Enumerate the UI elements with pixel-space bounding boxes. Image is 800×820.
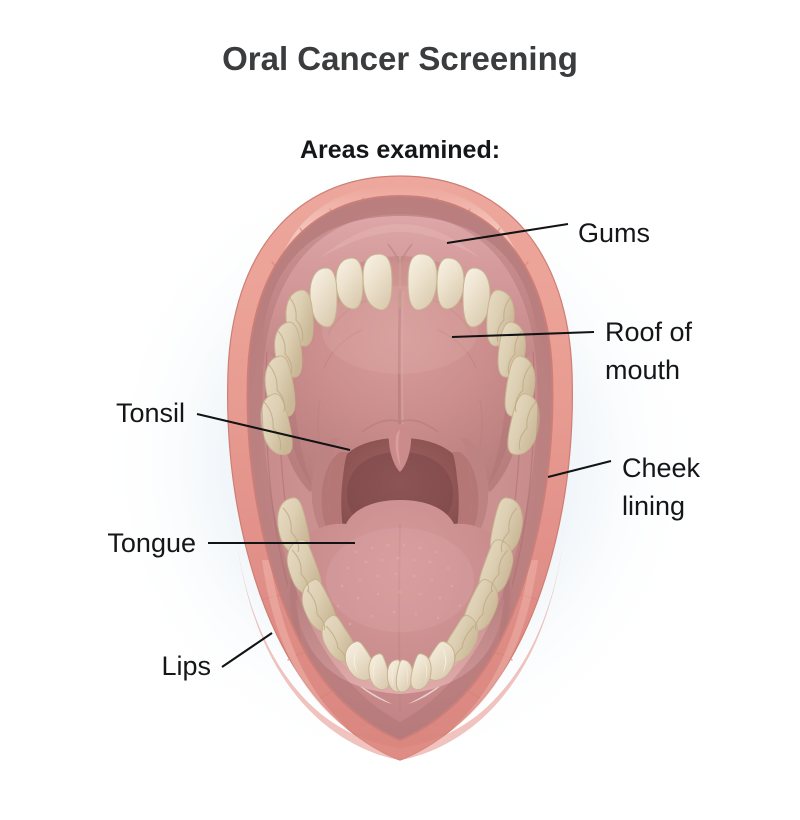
subtitle: Areas examined: [300, 136, 500, 164]
label-cheek-lining-line1: Cheek [622, 453, 701, 483]
illustration-canvas: Oral Cancer Screening Areas examined: Gu… [0, 0, 800, 820]
label-tongue: Tongue [107, 528, 196, 558]
label-roof-of-mouth-line2: mouth [605, 355, 680, 385]
label-roof-of-mouth-line1: Roof of [605, 317, 693, 347]
oral-cavity-illustration: Oral Cancer Screening Areas examined: Gu… [0, 0, 800, 820]
label-lips: Lips [161, 651, 211, 681]
page-title: Oral Cancer Screening [222, 40, 578, 77]
tooth-lower-central-right [396, 660, 412, 692]
label-gums: Gums [578, 218, 650, 248]
label-tonsil: Tonsil [116, 398, 185, 428]
label-cheek-lining-line2: lining [622, 491, 685, 521]
